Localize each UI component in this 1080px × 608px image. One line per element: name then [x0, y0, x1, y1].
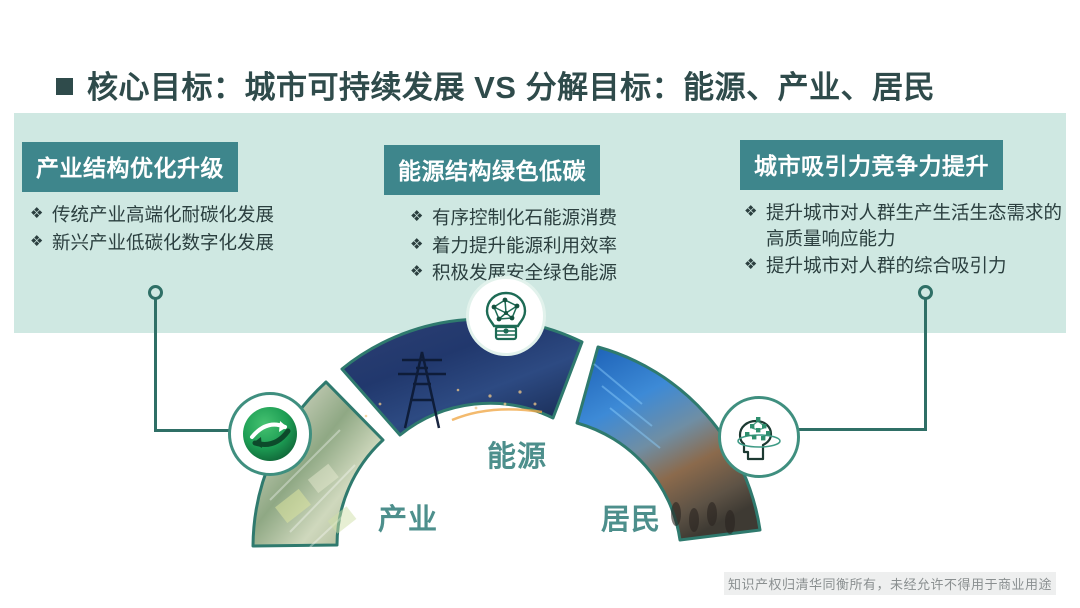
diamond-cluster-icon: ❖	[410, 233, 432, 257]
arc-label-energy: 能源	[487, 433, 547, 475]
green-sphere-arrows-icon	[239, 403, 301, 465]
badge-resident[interactable]	[718, 396, 800, 478]
diamond-cluster-icon: ❖	[30, 230, 52, 254]
card-city: 城市吸引力竞争力提升 ❖ 提升城市对人群生产生活生态需求的高质量响应能力 ❖ 提…	[740, 140, 1066, 281]
list-item: ❖ 提升城市对人群生产生活生态需求的高质量响应能力	[744, 200, 1066, 251]
diamond-cluster-icon: ❖	[30, 202, 52, 226]
list-item-label: 积极发展安全绿色能源	[432, 260, 704, 286]
connector-segment-vertical	[924, 298, 927, 430]
card-energy-list: ❖ 有序控制化石能源消费 ❖ 着力提升能源利用效率 ❖ 积极发展安全绿色能源	[410, 205, 704, 286]
list-item: ❖ 积极发展安全绿色能源	[410, 260, 704, 286]
diamond-cluster-icon: ❖	[410, 260, 432, 284]
card-industry-list: ❖ 传统产业高端化耐碳化发展 ❖ 新兴产业低碳化数字化发展	[30, 202, 352, 255]
card-city-header: 城市吸引力竞争力提升	[740, 140, 1003, 190]
page-title-text: 核心目标：城市可持续发展 VS 分解目标：能源、产业、居民	[87, 62, 935, 107]
diamond-cluster-icon: ❖	[744, 253, 766, 277]
list-item: ❖ 提升城市对人群的综合吸引力	[744, 253, 1066, 279]
list-item: ❖ 传统产业高端化耐碳化发展	[30, 202, 352, 228]
connector-segment-vertical	[154, 298, 157, 432]
arc-label-resident: 居民	[601, 496, 661, 538]
arc-segment-energy	[342, 319, 582, 435]
arc-label-industry: 产业	[378, 496, 438, 538]
badge-energy[interactable]	[466, 276, 546, 356]
card-industry: 产业结构优化升级 ❖ 传统产业高端化耐碳化发展 ❖ 新兴产业低碳化数字化发展	[22, 142, 352, 257]
smart-head-network-icon	[730, 409, 788, 465]
list-item-label: 有序控制化石能源消费	[432, 205, 704, 231]
badge-industry[interactable]	[228, 392, 312, 476]
network-lightbulb-icon	[478, 287, 534, 345]
list-item-label: 传统产业高端化耐碳化发展	[52, 202, 352, 228]
page-title: 核心目标：城市可持续发展 VS 分解目标：能源、产业、居民	[56, 62, 935, 107]
card-energy-header: 能源结构绿色低碳	[384, 145, 600, 195]
list-item: ❖ 新兴产业低碳化数字化发展	[30, 230, 352, 256]
filled-square-icon	[56, 78, 73, 95]
diamond-cluster-icon: ❖	[744, 200, 766, 224]
list-item-label: 着力提升能源利用效率	[432, 233, 704, 259]
list-item-label: 提升城市对人群生产生活生态需求的高质量响应能力	[766, 200, 1066, 251]
list-item: ❖ 着力提升能源利用效率	[410, 233, 704, 259]
slide-root: 核心目标：城市可持续发展 VS 分解目标：能源、产业、居民 产业结构优化升级 ❖…	[0, 0, 1080, 608]
list-item: ❖ 有序控制化石能源消费	[410, 205, 704, 231]
card-industry-header: 产业结构优化升级	[22, 142, 238, 192]
list-item-label: 新兴产业低碳化数字化发展	[52, 230, 352, 256]
diamond-cluster-icon: ❖	[410, 205, 432, 229]
watermark-text: 知识产权归清华同衡所有，未经允许不得用于商业用途	[724, 572, 1056, 595]
card-energy: 能源结构绿色低碳 ❖ 有序控制化石能源消费 ❖ 着力提升能源利用效率 ❖ 积极发…	[384, 145, 704, 288]
list-item-label: 提升城市对人群的综合吸引力	[766, 253, 1066, 279]
card-city-list: ❖ 提升城市对人群生产生活生态需求的高质量响应能力 ❖ 提升城市对人群的综合吸引…	[744, 200, 1066, 279]
